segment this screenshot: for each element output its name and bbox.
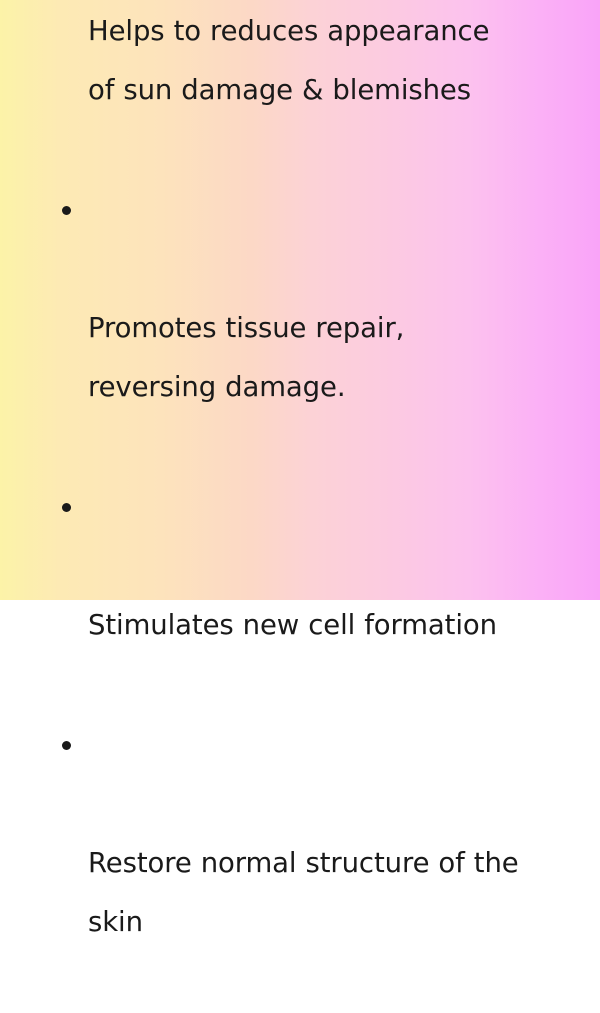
list-item: Restore normal structure of the skin (56, 716, 574, 1011)
bullet-point-icon (62, 741, 71, 750)
list-item: Promotes tissue repair, reversing damage… (56, 181, 574, 476)
list-item: Stimulates new cell formation (56, 478, 574, 714)
list-item-text: Promotes tissue repair, reversing damage… (88, 299, 574, 417)
bullet-point-icon (62, 503, 71, 512)
list-item-text: Helps to reduces appearance of sun damag… (88, 2, 574, 120)
list-item: Helps to reduces appearance of sun damag… (56, 0, 574, 179)
list-item-text: Stimulates new cell formation (88, 596, 574, 655)
benefits-list: Activates the immune system of the skin … (56, 0, 574, 1013)
list-item-text: Restore normal structure of the skin (88, 834, 574, 952)
slide-canvas: Activates the immune system of the skin … (0, 0, 600, 600)
bullet-point-icon (62, 206, 71, 215)
